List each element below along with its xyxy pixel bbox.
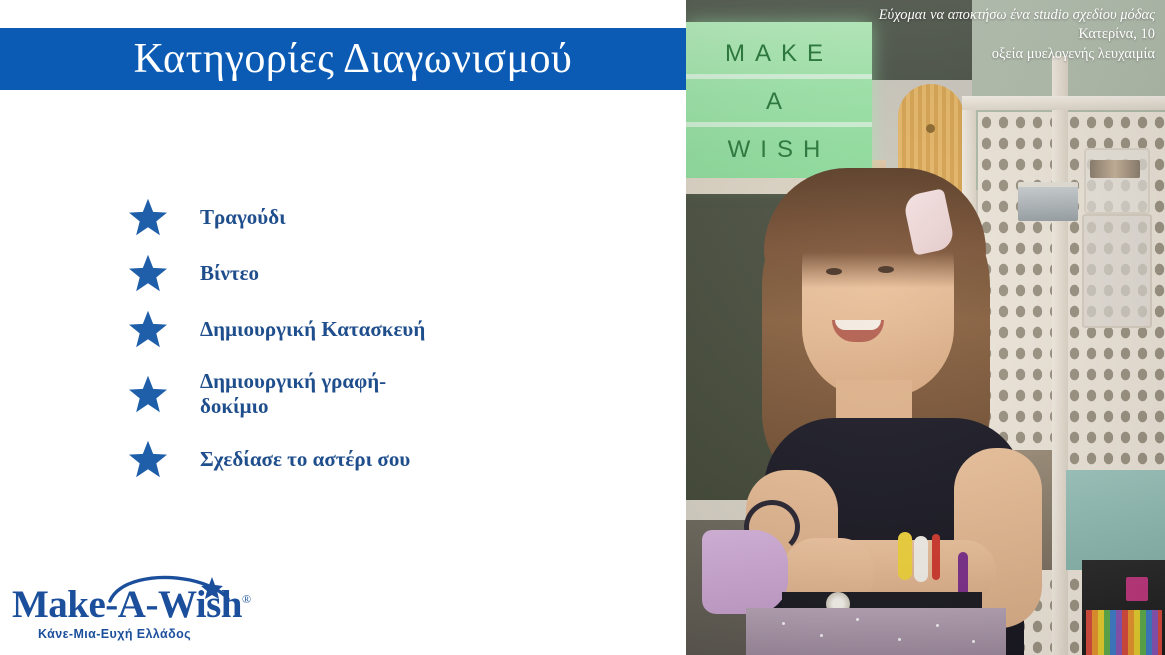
pegboard-top-rail <box>962 96 1165 110</box>
list-item-label: Βίντεο <box>200 261 259 286</box>
wristband-yellow <box>898 532 912 580</box>
photo-wall-teal <box>1066 470 1165 570</box>
page-title: Κατηγορίες Διαγωνισμού <box>134 38 573 80</box>
wristband-white <box>914 536 928 582</box>
lightbox-line-3: WISH <box>686 136 872 164</box>
registered-trademark-icon: ® <box>242 592 251 606</box>
category-list: Τραγούδι Βίντεο Δημιουργική Κατασκευή Δη… <box>128 198 668 496</box>
star-icon <box>128 254 168 292</box>
arch-knob-icon <box>926 124 935 133</box>
girl-eye-left <box>826 268 842 275</box>
list-item-label: Τραγούδι <box>200 205 286 230</box>
list-item: Δημιουργική γραφή- δοκίμιο <box>128 366 668 422</box>
pegboard-tray <box>1018 182 1078 221</box>
girl-teeth <box>835 320 881 330</box>
lightbox-divider <box>686 74 872 79</box>
list-item: Τραγούδι <box>128 198 668 236</box>
pegboard-cup-lower <box>1082 214 1152 328</box>
caption-name: Κατερίνα, 10 <box>855 25 1155 44</box>
list-item-label: Σχεδίασε το αστέρι σου <box>200 447 410 472</box>
slide-canvas: Κατηγορίες Διαγωνισμού Τραγούδι Βίντεο Δ… <box>0 0 1165 655</box>
girl-hair-front <box>764 168 986 288</box>
star-icon <box>128 198 168 236</box>
colored-pencils <box>1086 610 1162 655</box>
star-icon <box>128 375 168 413</box>
caption-wish-text: Εύχομαι να αποκτήσω ένα studio σχεδίου μ… <box>855 6 1155 25</box>
make-a-wish-logo: Make-A-Wish® Κάνε-Μια-Ευχή Ελλάδος <box>12 585 242 647</box>
logo-tagline: Κάνε-Μια-Ευχή Ελλάδος <box>38 627 242 641</box>
star-icon <box>128 310 168 348</box>
caption-diagnosis: οξεία μυελογενής λευχαιμία <box>855 45 1155 64</box>
lilac-bag <box>702 530 788 614</box>
lightbox-line-1: MAKE <box>686 40 872 68</box>
girl-eye-right <box>878 266 894 273</box>
lightbox-divider <box>686 122 872 127</box>
list-item-label: Δημιουργική γραφή- δοκίμιο <box>200 369 386 419</box>
wish-caption: Εύχομαι να αποκτήσω ένα studio σχεδίου μ… <box>855 6 1155 64</box>
pegboard-cup-upper <box>1084 148 1150 214</box>
lightbox-sign: MAKE A WISH <box>686 22 872 182</box>
logo-wordmark-wrap: Make-A-Wish® <box>12 585 242 624</box>
list-item: Σχεδίασε το αστέρι σου <box>128 440 668 478</box>
girl-tulle-skirt <box>746 608 1006 655</box>
star-icon <box>128 440 168 478</box>
pencils-in-cup <box>1090 160 1140 178</box>
list-item: Δημιουργική Κατασκευή <box>128 310 668 348</box>
logo-wordmark-text: Make-A-Wish <box>12 583 242 626</box>
wristband-red <box>932 534 940 580</box>
pink-object <box>1126 577 1148 601</box>
list-item: Βίντεο <box>128 254 668 292</box>
list-item-label: Δημιουργική Κατασκευή <box>200 317 425 342</box>
slide-title-bar: Κατηγορίες Διαγωνισμού <box>0 28 686 90</box>
lightbox-line-2: A <box>686 88 872 116</box>
girl-in-design-studio-photo: MAKE A WISH <box>686 0 1165 655</box>
